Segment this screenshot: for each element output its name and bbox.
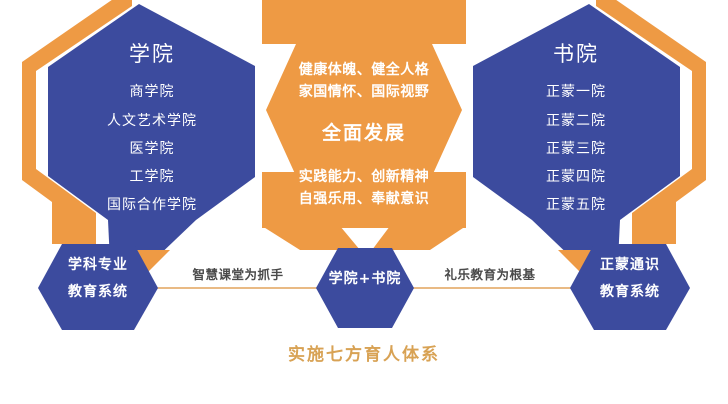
hexagon-right-line-0: 正蒙通识 [600, 258, 660, 273]
left-panel-item-4: 国际合作学院 [107, 198, 197, 213]
center-panel-top-line-1: 家国情怀、国际视野 [299, 85, 430, 100]
right-connector-label: 礼乐教育为根基 [444, 268, 535, 281]
center-left-tail [262, 226, 360, 250]
left-panel-item-2: 医学院 [130, 142, 175, 157]
infographic-canvas: 学院 商学院 人文艺术学院 医学院 工学院 国际合作学院 健康体魄、健全人格 家… [0, 0, 728, 404]
footer-title: 实施七方育人体系 [288, 347, 440, 365]
right-panel-item-4: 正蒙五院 [546, 198, 606, 213]
left-panel-item-0: 商学院 [130, 85, 175, 100]
hexagon-center-shape [316, 248, 414, 328]
left-panel-title: 学院 [129, 43, 175, 65]
center-right-tail [372, 226, 466, 250]
left-connector-label: 智慧课堂为抓手 [192, 268, 283, 281]
center-panel-title: 全面发展 [322, 124, 406, 144]
right-panel-item-2: 正蒙三院 [546, 142, 606, 157]
right-panel-item-0: 正蒙一院 [546, 85, 606, 100]
right-panel-item-3: 正蒙四院 [546, 170, 606, 185]
right-panel-item-1: 正蒙二院 [546, 114, 606, 129]
right-panel-title: 书院 [553, 43, 599, 65]
hexagon-right-line-1: 教育系统 [600, 285, 660, 300]
center-panel-bottom-line-0: 实践能力、创新精神 [299, 170, 430, 185]
left-panel-item-1: 人文艺术学院 [107, 114, 197, 129]
center-panel-bottom-line-1: 自强乐用、奉献意识 [299, 192, 430, 207]
hexagon-left-line-1: 教育系统 [68, 285, 128, 300]
hexagon-left-line-0: 学科专业 [68, 258, 128, 273]
center-panel-top-line-0: 健康体魄、健全人格 [299, 63, 430, 78]
left-panel-item-3: 工学院 [130, 170, 175, 185]
hexagon-center-line-0: 学院+书院 [329, 272, 402, 287]
